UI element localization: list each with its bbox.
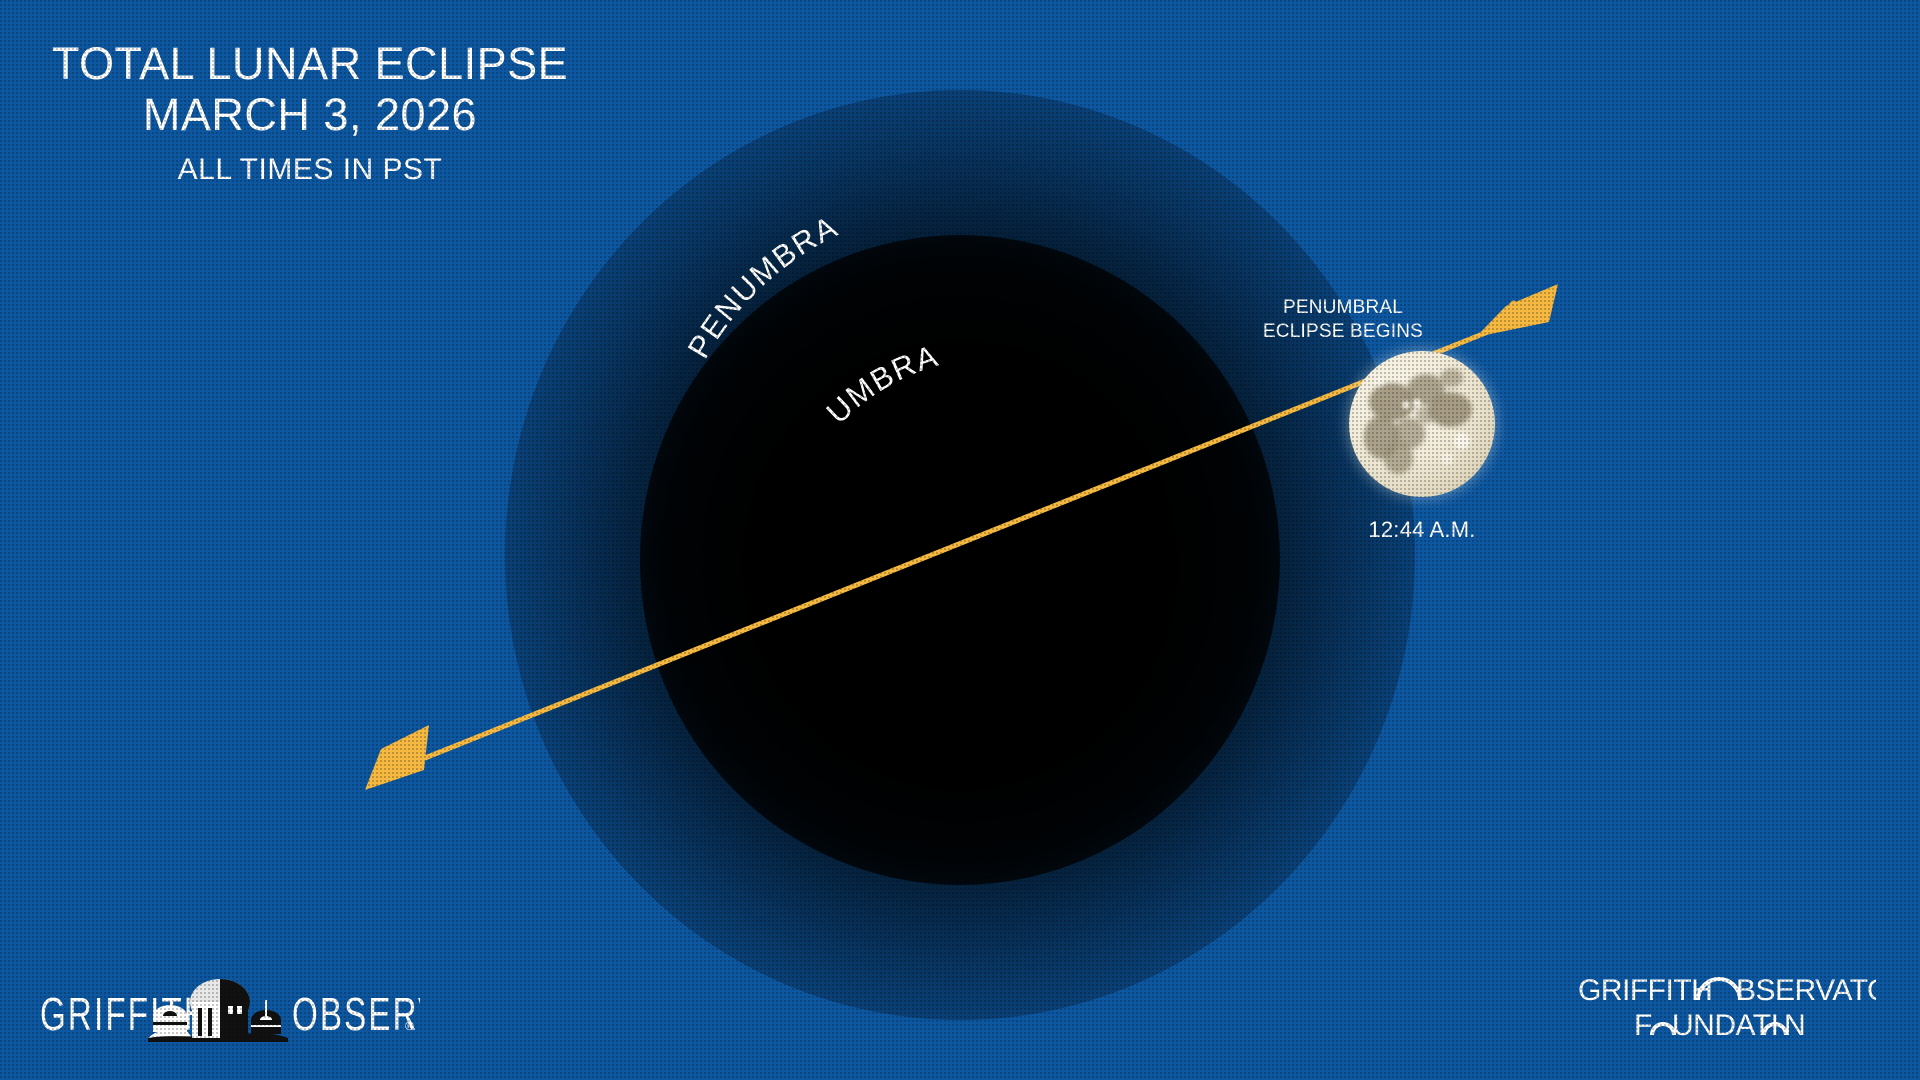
- timezone-note: ALL TIMES IN PST: [0, 141, 620, 198]
- griffith-observatory-logo[interactable]: GRIFFITH: [40, 968, 420, 1046]
- foundation-logo-f: F: [1634, 1009, 1652, 1042]
- arrowhead-northeast: [1478, 285, 1557, 336]
- foundation-logo-bservatory: BSERVATORY: [1736, 974, 1876, 1007]
- poster-title-block: TOTAL LUNAR ECLIPSE MARCH 3, 2026 ALL TI…: [0, 40, 620, 198]
- event-label-line1: PENUMBRAL: [1236, 296, 1450, 320]
- umbra-shadow: [742, 340, 1178, 790]
- moon-disc: [1349, 351, 1495, 497]
- dome-arc-icon-o2: [1652, 1024, 1674, 1035]
- eclipse-date: MARCH 3, 2026: [0, 88, 620, 141]
- registered-trademark-icon: ®: [405, 1019, 414, 1033]
- foundation-logo-svg: GRIFFITH BSERVATORY F UNDATI N: [1576, 968, 1876, 1046]
- griffith-observatory-building-icon: [148, 979, 288, 1042]
- penumbra-inner-shadow: [640, 235, 1280, 885]
- griffith-observatory-foundation-logo[interactable]: GRIFFITH BSERVATORY F UNDATI N: [1576, 968, 1876, 1046]
- arrowhead-southwest: [366, 726, 428, 789]
- penumbra-label: PENUMBRA: [681, 209, 844, 364]
- penumbral-eclipse-begins-label: PENUMBRAL ECLIPSE BEGINS: [1236, 296, 1450, 344]
- foundation-logo-griffith: GRIFFITH: [1578, 974, 1712, 1007]
- moon-at-penumbral-contact: [1349, 351, 1495, 497]
- arrowhead-northeast-wing: [1476, 284, 1558, 337]
- foundation-logo-n: N: [1784, 1009, 1805, 1042]
- penumbra-outer-shadow: [505, 90, 1415, 1020]
- arrowhead-southwest-wing: [365, 725, 429, 790]
- observatory-logo-svg: GRIFFITH: [40, 968, 420, 1046]
- umbra-label: UMBRA: [820, 338, 943, 430]
- event-time: 12:44 A.M.: [1322, 517, 1522, 543]
- event-label-line2: ECLIPSE BEGINS: [1236, 320, 1450, 344]
- page-title: TOTAL LUNAR ECLIPSE: [0, 40, 620, 88]
- observatory-logo-word-right: OBSERVATORY: [292, 990, 420, 1040]
- foundation-logo-undati: UNDATI: [1672, 1009, 1778, 1042]
- eclipse-poster: TOTAL LUNAR ECLIPSE MARCH 3, 2026 ALL TI…: [0, 0, 1920, 1080]
